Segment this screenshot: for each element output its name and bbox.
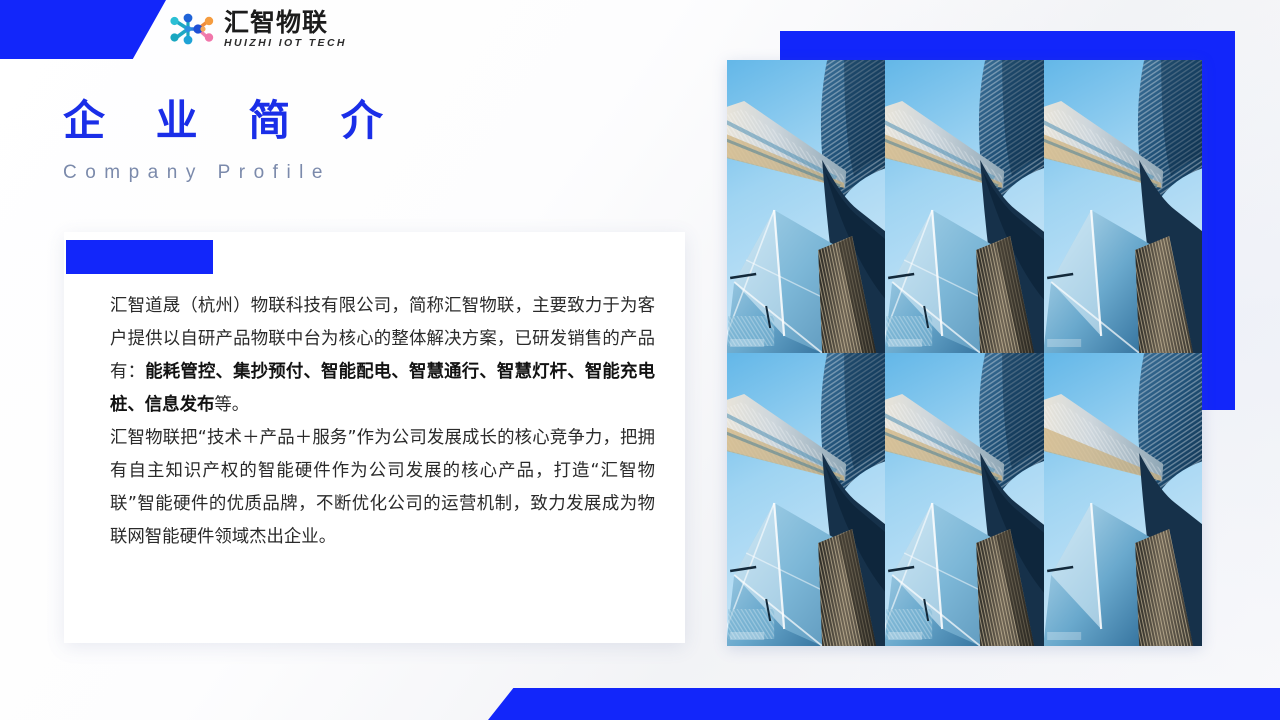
profile-text-run: 汇智物联把“技术＋产品＋服务”作为公司发展成长的核心竞争力，把拥有自主知识产权的… [110, 428, 655, 547]
skyscraper-photo-icon [727, 60, 885, 353]
photo-tile [885, 353, 1043, 646]
page-title-block: 企 业 简 介 Company Profile [63, 98, 401, 184]
profile-paragraph: 汇智物联把“技术＋产品＋服务”作为公司发展成长的核心竞争力，把拥有自主知识产权的… [110, 422, 655, 554]
logo-name-en: HUIZHI IOT TECH [224, 38, 347, 49]
photo-grid [727, 60, 1202, 646]
skyscraper-photo-icon [1044, 353, 1202, 646]
profile-text-run: 等。 [214, 395, 249, 415]
page-subtitle: Company Profile [63, 162, 401, 184]
photo-tile [885, 60, 1043, 353]
profile-paragraph: 汇智道晟（杭州）物联科技有限公司，简称汇智物联，主要致力于为客户提供以自研产品物… [110, 290, 655, 422]
card-blue-accent-bar [66, 240, 213, 274]
photo-tile [1044, 60, 1202, 353]
logo-name-cn: 汇智物联 [224, 10, 347, 35]
logo-wordmark: 汇智物联 HUIZHI IOT TECH [224, 10, 347, 49]
skyscraper-photo-icon [1044, 60, 1202, 353]
skyscraper-photo-icon [727, 353, 885, 646]
company-profile-card: 汇智道晟（杭州）物联科技有限公司，简称汇智物联，主要致力于为客户提供以自研产品物… [64, 232, 685, 643]
skyscraper-photo-icon [885, 60, 1043, 353]
photo-tile [1044, 353, 1202, 646]
page-title: 企 业 简 介 [63, 98, 401, 144]
company-profile-text: 汇智道晟（杭州）物联科技有限公司，简称汇智物联，主要致力于为客户提供以自研产品物… [110, 290, 655, 554]
photo-tile [727, 60, 885, 353]
photo-tile [727, 353, 885, 646]
skyscraper-photo-icon [885, 353, 1043, 646]
company-logo[interactable]: 汇智物联 HUIZHI IOT TECH [168, 10, 347, 49]
profile-text-emphasis: 能耗管控、集抄预付、智能配电、智慧通行、智慧灯杆、智能充电桩、信息发布 [110, 362, 655, 415]
molecule-network-icon [168, 10, 218, 48]
bottom-blue-parallelogram [488, 688, 1280, 720]
